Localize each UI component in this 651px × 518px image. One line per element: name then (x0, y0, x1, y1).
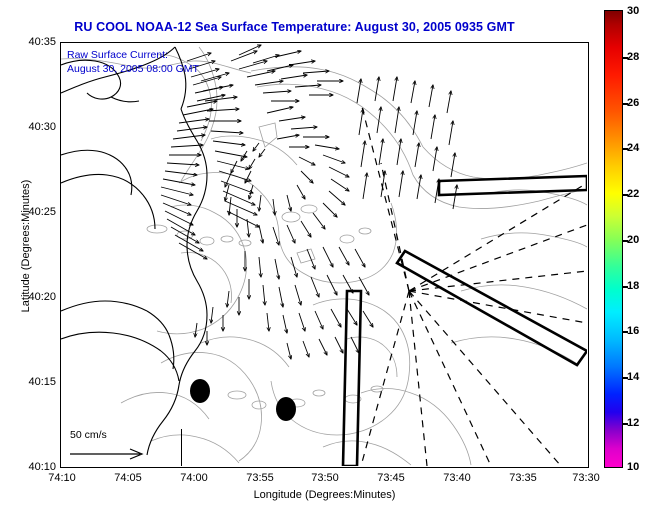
cb-tick-20: 20 (627, 234, 639, 246)
cb-mark-24 (623, 148, 628, 150)
cb-mark-20 (623, 240, 628, 242)
cb-tick-24: 24 (627, 142, 639, 154)
sst-current-map-figure: RU COOL NOAA-12 Sea Surface Temperature:… (0, 0, 651, 518)
cb-tick-18: 18 (627, 280, 639, 292)
cb-tick-22: 22 (627, 188, 639, 200)
cb-mark-14 (623, 377, 628, 379)
cb-mark-26 (623, 103, 628, 105)
cb-tick-14: 14 (627, 371, 639, 383)
colorbar-ticks: 30 28 26 24 22 20 18 16 14 12 10 (0, 0, 651, 518)
cb-tick-10: 10 (627, 461, 639, 473)
cb-tick-26: 26 (627, 97, 639, 109)
cb-mark-28 (623, 57, 628, 59)
cb-mark-12 (623, 423, 628, 425)
cb-mark-16 (623, 331, 628, 333)
cb-mark-18 (623, 286, 628, 288)
cb-tick-28: 28 (627, 51, 639, 63)
cb-mark-22 (623, 194, 628, 196)
cb-tick-16: 16 (627, 325, 639, 337)
cb-tick-12: 12 (627, 417, 639, 429)
cb-tick-30: 30 (627, 5, 639, 17)
